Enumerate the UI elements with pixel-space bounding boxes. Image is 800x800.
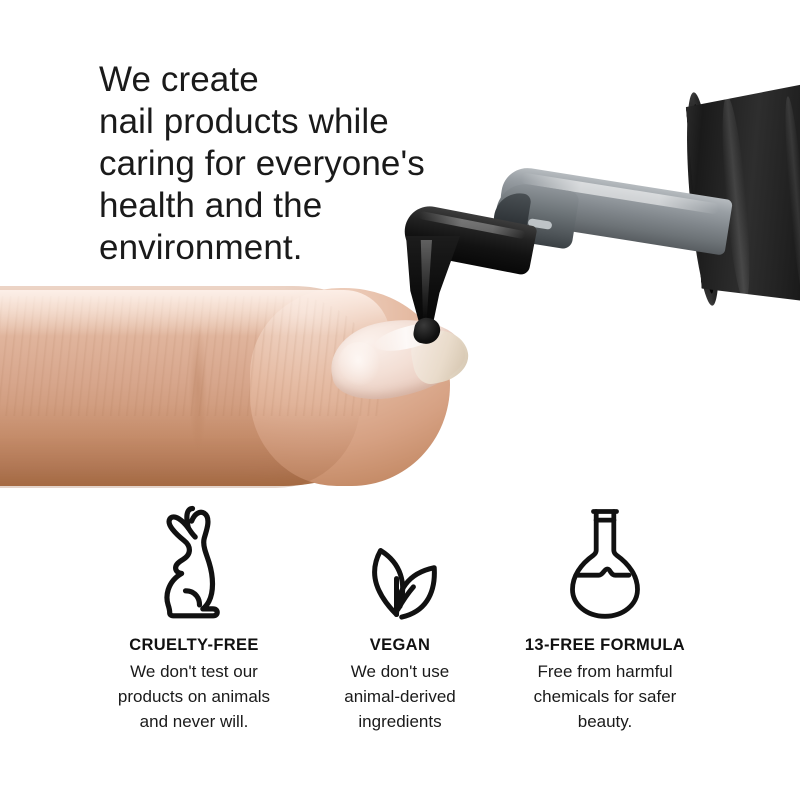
feature-description: We don't use animal-derived ingredients	[344, 659, 456, 734]
feature-cruelty-free: CRUELTY-FREE We don't test our products …	[89, 492, 299, 734]
feature-title: 13-FREE FORMULA	[525, 636, 685, 655]
flask-icon	[562, 492, 648, 620]
feature-title: CRUELTY-FREE	[129, 636, 258, 655]
leaves-icon	[356, 492, 444, 620]
feature-vegan: VEGAN We don't use animal-derived ingred…	[307, 492, 493, 734]
finger-shadow	[0, 404, 360, 488]
promo-banner: We create nail products while caring for…	[0, 0, 800, 800]
feature-13-free-formula: 13-FREE FORMULA Free from harmful chemic…	[499, 492, 711, 734]
features-row: CRUELTY-FREE We don't test our products …	[0, 492, 800, 734]
feature-description: We don't test our products on animals an…	[118, 659, 270, 734]
feature-title: VEGAN	[370, 636, 430, 655]
rabbit-icon	[158, 492, 230, 620]
feature-description: Free from harmful chemicals for safer be…	[534, 659, 677, 734]
headline: We create nail products while caring for…	[99, 59, 529, 269]
